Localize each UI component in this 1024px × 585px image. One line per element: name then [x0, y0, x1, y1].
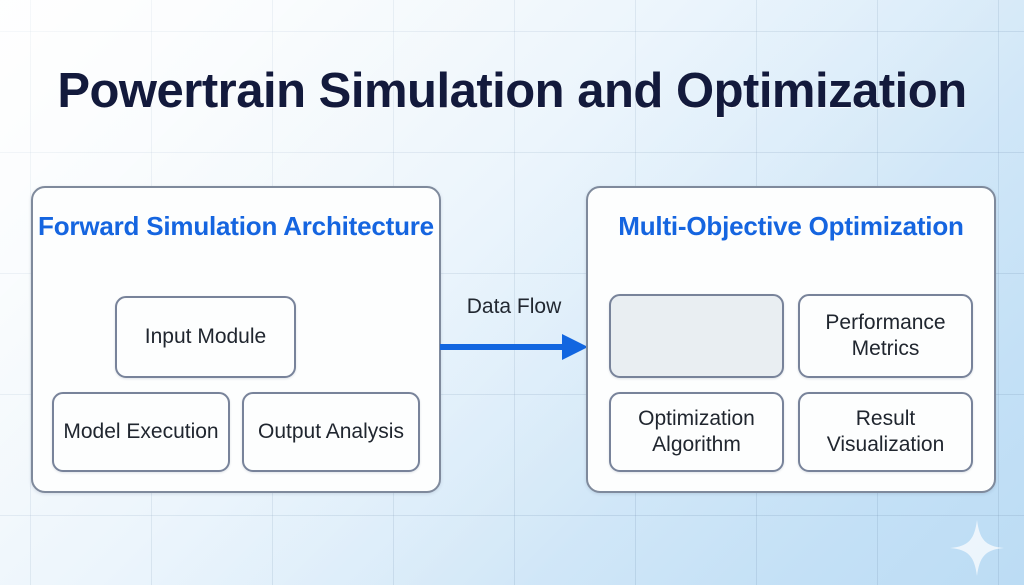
node-input-module-label: Input Module: [145, 324, 266, 350]
panel-title-multi-objective-optimization: Multi-Objective Optimization: [588, 206, 994, 246]
sparkle-icon: [948, 518, 1006, 578]
slide-canvas: Powertrain Simulation and Optimization F…: [0, 0, 1024, 585]
data-flow-label: Data Flow: [440, 294, 588, 320]
node-optimization-algorithm[interactable]: Optimization Algorithm: [609, 392, 784, 472]
node-output-analysis-label: Output Analysis: [258, 419, 404, 445]
node-input-module[interactable]: Input Module: [115, 296, 296, 378]
node-optimization-algorithm-label: Optimization Algorithm: [611, 406, 782, 458]
node-model-execution-label: Model Execution: [63, 419, 218, 445]
node-performance-metrics[interactable]: Performance Metrics: [798, 294, 973, 378]
arrow-right-icon: [438, 330, 590, 364]
node-result-visualization-label: Result Visualization: [800, 406, 971, 458]
node-result-visualization[interactable]: Result Visualization: [798, 392, 973, 472]
node-performance-metrics-label: Performance Metrics: [800, 310, 971, 362]
page-title: Powertrain Simulation and Optimization: [0, 62, 1024, 120]
node-output-analysis[interactable]: Output Analysis: [242, 392, 420, 472]
node-model-execution[interactable]: Model Execution: [52, 392, 230, 472]
node-blank-placeholder[interactable]: [609, 294, 784, 378]
panel-title-forward-simulation-architecture: Forward Simulation Architecture: [33, 206, 439, 246]
